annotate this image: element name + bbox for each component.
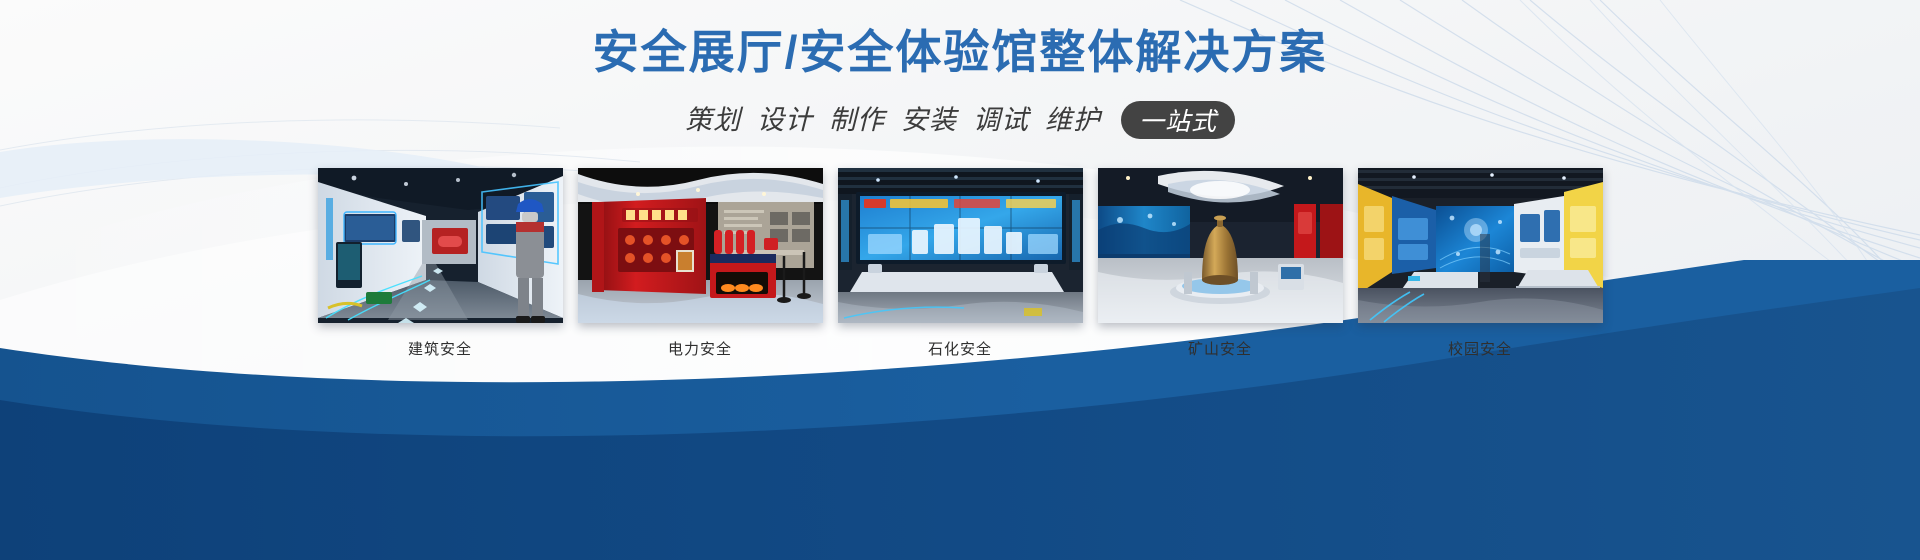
gallery-item-campus[interactable]: 校园安全 <box>1358 168 1603 361</box>
subtitle-word-4: 安装 <box>901 100 957 140</box>
thumbnail-electric-power[interactable] <box>578 168 823 323</box>
mine-hall-image <box>1098 168 1343 323</box>
gallery-item-mine[interactable]: 矿山安全 <box>1098 168 1343 361</box>
gallery-caption-mine: 矿山安全 <box>1188 339 1252 361</box>
campus-hall-image <box>1358 168 1603 323</box>
subtitle-word-3: 制作 <box>829 100 885 140</box>
subtitle-row: 策划 设计 制作 安装 调试 维护 一站式 <box>0 100 1920 140</box>
page-title: 安全展厅/安全体验馆整体解决方案 <box>0 24 1920 80</box>
gallery-item-electric-power[interactable]: 电力安全 <box>578 168 823 361</box>
subtitle-word-6: 维护 <box>1045 100 1101 140</box>
construction-hall-image <box>318 168 563 323</box>
gallery-caption-construction: 建筑安全 <box>408 339 472 361</box>
gallery-caption-electric-power: 电力安全 <box>668 339 732 361</box>
subtitle-word-list: 策划 设计 制作 安装 调试 维护 <box>685 100 1101 140</box>
thumbnail-construction[interactable] <box>318 168 563 323</box>
thumbnail-campus[interactable] <box>1358 168 1603 323</box>
gallery-item-construction[interactable]: 建筑安全 <box>318 168 563 361</box>
gallery-caption-campus: 校园安全 <box>1448 339 1512 361</box>
subtitle-word-2: 设计 <box>757 100 813 140</box>
one-stop-badge: 一站式 <box>1121 101 1235 139</box>
gallery-item-petrochemical[interactable]: 石化安全 <box>838 168 1083 361</box>
safety-exhibition-banner: 安全展厅/安全体验馆整体解决方案 策划 设计 制作 安装 调试 维护 一站式 <box>0 0 1920 560</box>
subtitle-word-1: 策划 <box>685 100 741 140</box>
gallery-caption-petrochemical: 石化安全 <box>928 339 992 361</box>
electric-power-hall-image <box>578 168 823 323</box>
gallery: 建筑安全 <box>0 168 1920 361</box>
thumbnail-mine[interactable] <box>1098 168 1343 323</box>
thumbnail-petrochemical[interactable] <box>838 168 1083 323</box>
subtitle-word-5: 调试 <box>973 100 1029 140</box>
petrochemical-hall-image <box>838 168 1083 323</box>
